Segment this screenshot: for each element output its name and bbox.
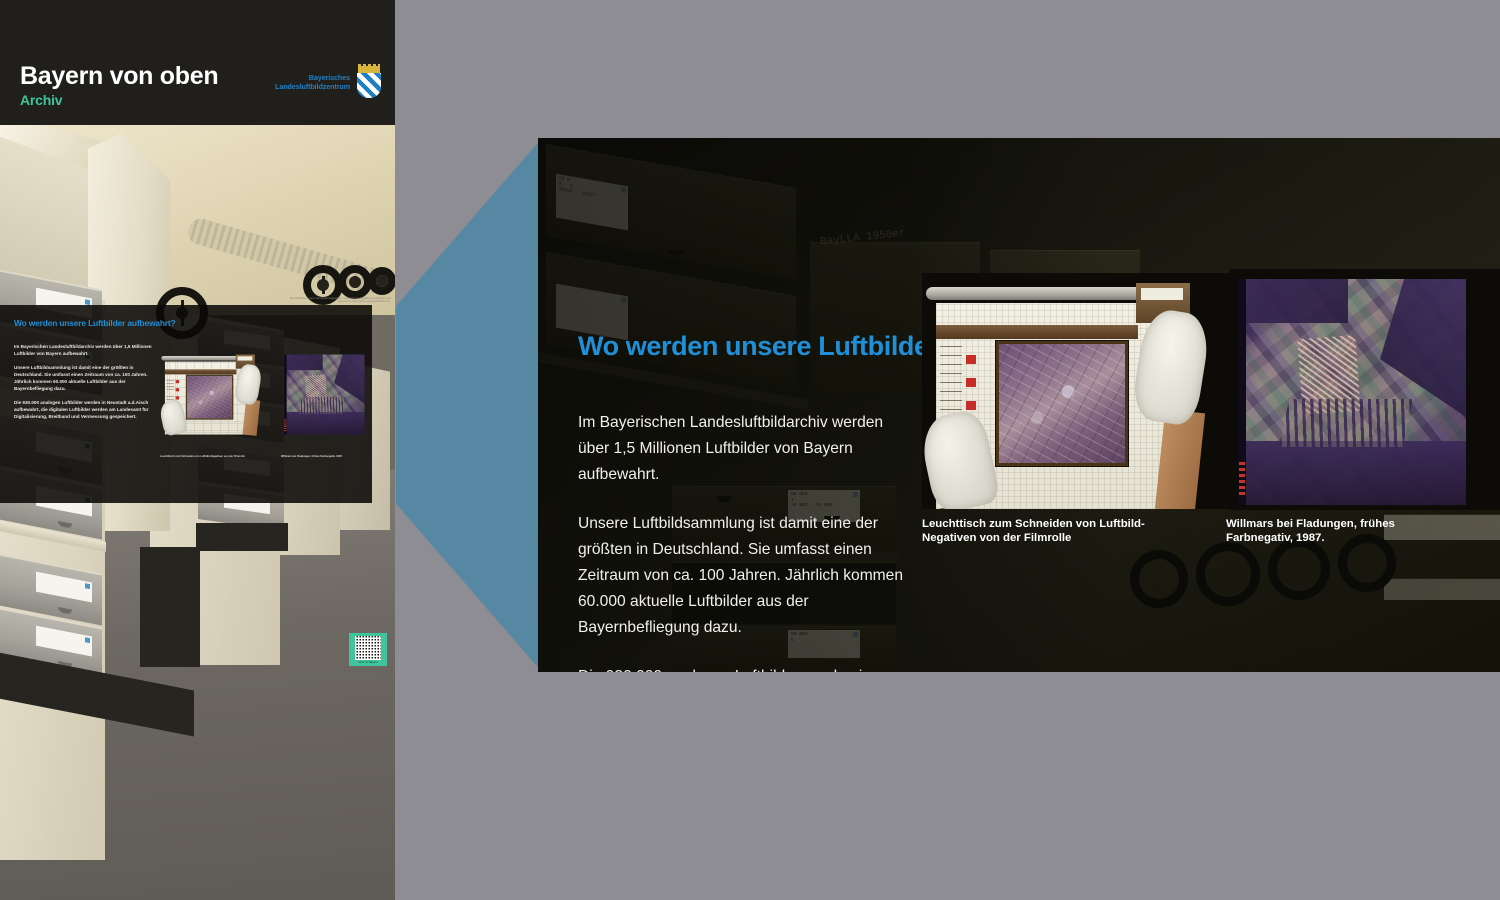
- wooden-cross-bar: [936, 325, 1138, 339]
- aerial-negative: [996, 341, 1128, 466]
- mini-panel-body: Im Bayerischen Landesluftbildarchiv werd…: [14, 343, 154, 426]
- mini-panel-title: Wo werden unsere Luftbilder aufbewahrt?: [14, 318, 176, 328]
- control-button[interactable]: [966, 355, 976, 364]
- aerial-negative: [186, 375, 233, 419]
- logo-text: Bayerisches Landesluftbildzentrum: [275, 73, 350, 92]
- logo: Bayerisches Landesluftbildzentrum: [275, 66, 383, 98]
- mini-panel: Wo werden unsere Luftbilder aufbewahrt? …: [0, 305, 372, 503]
- forest-area: [1238, 279, 1348, 323]
- qr-code-sticker[interactable]: mehr zu Bayern: [349, 633, 387, 666]
- mini-paragraph-2: Unsere Luftbildsammlung ist damit eine d…: [14, 364, 154, 392]
- label-emblem-icon: [85, 583, 90, 589]
- detail-panel: 53 0 0 - 1 10555 - 13117 BayLLA 1950er 6…: [538, 138, 1500, 672]
- mini-caption-left: Leuchttisch zum Schneiden von Luftbild-N…: [160, 455, 274, 458]
- shelf-plinth: [196, 523, 288, 551]
- qr-code-icon: [355, 636, 381, 660]
- mini-photo-aerial: [281, 351, 372, 451]
- zoom-callout-arrow: [396, 138, 542, 672]
- photo-credit: Alle Abbildungen, wenn nicht anders ange…: [286, 297, 391, 303]
- archive-room-photo: mehr zu Bayern: [0, 125, 395, 900]
- forest-area: [284, 412, 365, 435]
- box-label: [36, 626, 92, 657]
- handwheel[interactable]: [368, 267, 395, 295]
- film-edge-markings: [1239, 461, 1245, 495]
- photo-color-negative: [1230, 269, 1500, 510]
- field-rows: [298, 397, 346, 414]
- mini-paragraph-1: Im Bayerischen Landesluftbildarchiv werd…: [14, 343, 154, 357]
- wooden-cross-bar: [165, 369, 237, 374]
- banner-header: Bayern von oben Archiv Bayerisches Lande…: [0, 0, 395, 125]
- panel-paragraph-2: Unsere Luftbildsammlung ist damit eine d…: [578, 511, 908, 640]
- forest-area: [1238, 441, 1466, 505]
- color-negative-frame: [1238, 279, 1466, 505]
- forearm: [242, 399, 260, 436]
- film-roll-tag: [1141, 288, 1183, 300]
- photo-caption-left: Leuchttisch zum Schneiden von Luftbild-N…: [922, 517, 1162, 545]
- roller-bar: [926, 287, 1142, 300]
- bavarian-coat-of-arms-icon: [355, 66, 383, 98]
- qr-code-caption: mehr zu Bayern: [352, 661, 384, 664]
- film-edge-markings: [284, 419, 286, 431]
- mini-paragraph-3: Die 930.000 analogen Luftbilder werden i…: [14, 399, 154, 420]
- exhibit-banner: Bayern von oben Archiv Bayerisches Lande…: [0, 0, 395, 900]
- photo-caption-right: Willmars bei Fladungen, frühes Farbnegat…: [1226, 517, 1456, 545]
- banner-subtitle: Archiv: [20, 92, 62, 108]
- box-label: [36, 572, 92, 603]
- handwheel[interactable]: [338, 265, 372, 299]
- banner-title: Bayern von oben: [20, 62, 218, 91]
- panel-paragraph-3: Die 930.000 analogen Luftbilder werden i…: [578, 664, 908, 672]
- crown-icon: [358, 66, 380, 73]
- label-emblem-icon: [85, 637, 90, 643]
- mini-photo-lighttable: [160, 351, 275, 451]
- color-negative-frame: [284, 355, 365, 435]
- logo-line-1: Bayerisches: [275, 73, 350, 83]
- roller-bar: [161, 356, 237, 361]
- film-roll-tag: [238, 356, 253, 360]
- lozenge-shield-icon: [357, 73, 381, 98]
- logo-line-2: Landesluftbildzentrum: [275, 82, 350, 92]
- forest-area: [284, 355, 323, 371]
- box-notch: [58, 607, 72, 615]
- photo-light-table: [922, 273, 1246, 509]
- control-button[interactable]: [966, 378, 976, 387]
- panel-body-text: Im Bayerischen Landesluftbildarchiv werd…: [578, 410, 908, 672]
- forest-area: [1380, 279, 1466, 417]
- field-rows: [1279, 399, 1413, 447]
- mini-caption-right: Willmars bei Fladungen, frühes Farbnegat…: [281, 455, 372, 458]
- panel-paragraph-1: Im Bayerischen Landesluftbildarchiv werd…: [578, 410, 908, 487]
- control-button[interactable]: [966, 401, 976, 410]
- shelf-plinth-side: [140, 547, 200, 667]
- box-notch: [58, 521, 72, 529]
